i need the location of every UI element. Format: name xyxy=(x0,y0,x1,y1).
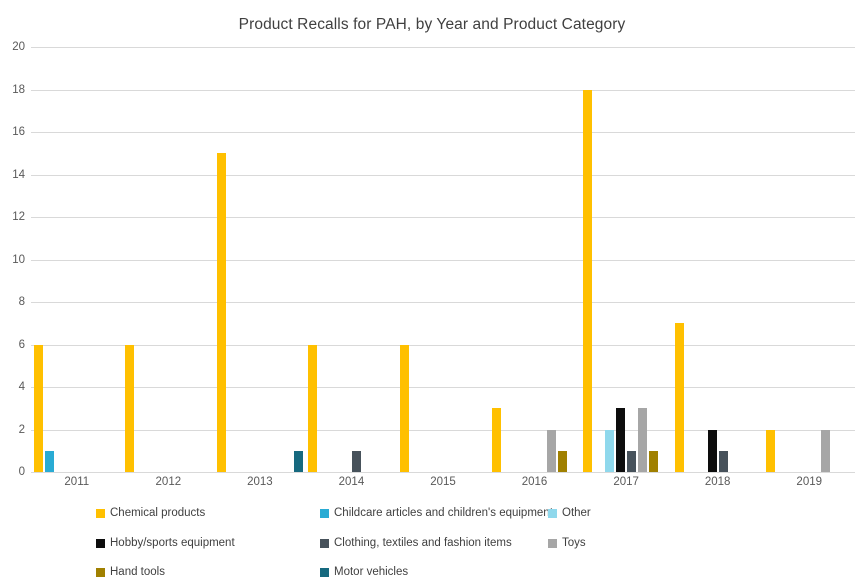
y-axis-tick-label: 14 xyxy=(1,170,25,182)
y-axis-tick-label: 12 xyxy=(1,212,25,224)
y-axis-tick-label: 8 xyxy=(1,297,25,309)
x-axis-tick-label: 2015 xyxy=(430,476,456,488)
legend-color-swatch-icon xyxy=(96,539,105,548)
bar xyxy=(34,345,43,473)
gridline xyxy=(31,302,855,303)
legend-color-swatch-icon xyxy=(320,568,329,577)
y-axis-tick-label: 2 xyxy=(1,425,25,437)
bar xyxy=(821,430,830,473)
bar xyxy=(766,430,775,473)
gridline xyxy=(31,430,855,431)
bar xyxy=(616,408,625,472)
bar xyxy=(294,451,303,472)
x-axis-tick-label: 2018 xyxy=(705,476,731,488)
legend-color-swatch-icon xyxy=(96,509,105,518)
chart-container: Product Recalls for PAH, by Year and Pro… xyxy=(0,0,864,574)
bar xyxy=(558,451,567,472)
bar xyxy=(217,153,226,472)
legend-item[interactable]: Other xyxy=(548,507,591,519)
gridline xyxy=(31,345,855,346)
bar xyxy=(708,430,717,473)
gridline xyxy=(31,472,855,473)
gridline xyxy=(31,260,855,261)
legend-item-label: Hand tools xyxy=(110,566,165,578)
x-axis-tick-label: 2013 xyxy=(247,476,273,488)
chart-legend: Chemical productsChildcare articles and … xyxy=(0,500,864,570)
x-axis: 201120122013201420152016201720182019 xyxy=(31,476,855,496)
legend-color-swatch-icon xyxy=(320,509,329,518)
bar xyxy=(605,430,614,473)
legend-item-label: Chemical products xyxy=(110,507,205,519)
legend-item-label: Motor vehicles xyxy=(334,566,408,578)
gridline xyxy=(31,217,855,218)
y-axis: 02468101214161820 xyxy=(0,47,25,472)
gridline xyxy=(31,175,855,176)
chart-title: Product Recalls for PAH, by Year and Pro… xyxy=(0,16,864,34)
legend-item[interactable]: Motor vehicles xyxy=(320,566,408,578)
x-axis-tick-label: 2012 xyxy=(156,476,182,488)
bar xyxy=(627,451,636,472)
bar xyxy=(352,451,361,472)
x-axis-tick-label: 2017 xyxy=(613,476,639,488)
legend-item-label: Childcare articles and children's equipm… xyxy=(334,507,553,519)
legend-item[interactable]: Childcare articles and children's equipm… xyxy=(320,507,553,519)
y-axis-tick-label: 6 xyxy=(1,340,25,352)
y-axis-tick-label: 18 xyxy=(1,85,25,97)
y-axis-tick-label: 16 xyxy=(1,127,25,139)
legend-item-label: Clothing, textiles and fashion items xyxy=(334,537,512,549)
legend-color-swatch-icon xyxy=(548,539,557,548)
bar xyxy=(400,345,409,473)
legend-item-label: Hobby/sports equipment xyxy=(110,537,235,549)
plot-area xyxy=(31,47,855,472)
x-axis-tick-label: 2019 xyxy=(796,476,822,488)
bar xyxy=(547,430,556,473)
y-axis-tick-label: 4 xyxy=(1,382,25,394)
bar xyxy=(675,323,684,472)
legend-item[interactable]: Toys xyxy=(548,537,586,549)
gridline xyxy=(31,90,855,91)
legend-item[interactable]: Hobby/sports equipment xyxy=(96,537,235,549)
bar xyxy=(649,451,658,472)
y-axis-tick-label: 10 xyxy=(1,255,25,267)
legend-color-swatch-icon xyxy=(548,509,557,518)
x-axis-tick-label: 2011 xyxy=(64,476,89,488)
legend-item-label: Toys xyxy=(562,537,586,549)
bar xyxy=(583,90,592,473)
legend-item[interactable]: Clothing, textiles and fashion items xyxy=(320,537,512,549)
gridline xyxy=(31,47,855,48)
x-axis-tick-label: 2014 xyxy=(339,476,365,488)
gridline xyxy=(31,387,855,388)
bar xyxy=(638,408,647,472)
y-axis-tick-label: 20 xyxy=(1,42,25,54)
legend-item-label: Other xyxy=(562,507,591,519)
legend-item[interactable]: Chemical products xyxy=(96,507,205,519)
legend-color-swatch-icon xyxy=(320,539,329,548)
legend-color-swatch-icon xyxy=(96,568,105,577)
bar xyxy=(125,345,134,473)
bar xyxy=(45,451,54,472)
y-axis-tick-label: 0 xyxy=(1,467,25,479)
gridline xyxy=(31,132,855,133)
bar xyxy=(308,345,317,473)
legend-item[interactable]: Hand tools xyxy=(96,566,165,578)
bar xyxy=(719,451,728,472)
x-axis-tick-label: 2016 xyxy=(522,476,548,488)
bar xyxy=(492,408,501,472)
